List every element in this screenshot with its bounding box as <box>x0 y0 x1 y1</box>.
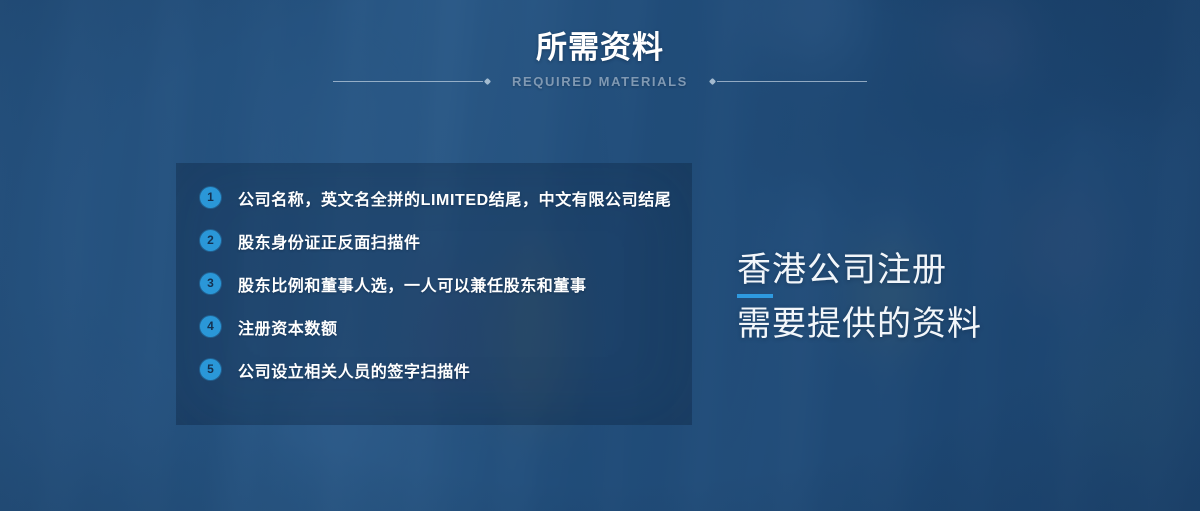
side-headline-line-1: 香港公司注册 <box>737 248 1157 292</box>
item-number-badge: 3 <box>200 273 221 294</box>
requirements-list: 1 公司名称，英文名全拼的LIMITED结尾，中文有限公司结尾 2 股东身份证正… <box>200 185 678 388</box>
list-item: 1 公司名称，英文名全拼的LIMITED结尾，中文有限公司结尾 <box>200 185 678 216</box>
requirements-panel: 1 公司名称，英文名全拼的LIMITED结尾，中文有限公司结尾 2 股东身份证正… <box>176 163 692 425</box>
list-item: 4 注册资本数额 <box>200 314 678 345</box>
side-headline: 香港公司注册 需要提供的资料 <box>737 248 1157 346</box>
background-color-blob <box>0 360 160 480</box>
item-text: 公司名称，英文名全拼的LIMITED结尾，中文有限公司结尾 <box>238 185 671 216</box>
item-text: 股东身份证正反面扫描件 <box>238 228 421 259</box>
item-text: 公司设立相关人员的签字扫描件 <box>238 357 470 388</box>
decoration-dot-icon <box>709 78 716 85</box>
decoration-line-icon <box>717 81 867 82</box>
subtitle-decoration-right <box>710 79 867 84</box>
item-number-badge: 1 <box>200 187 221 208</box>
page-title: 所需资料 <box>0 28 1200 68</box>
subtitle-decoration-left <box>333 79 490 84</box>
decoration-line-icon <box>333 81 483 82</box>
item-text: 股东比例和董事人选，一人可以兼任股东和董事 <box>238 271 587 302</box>
list-item: 5 公司设立相关人员的签字扫描件 <box>200 357 678 388</box>
item-number-badge: 2 <box>200 230 221 251</box>
list-item: 2 股东身份证正反面扫描件 <box>200 228 678 259</box>
item-number-badge: 5 <box>200 359 221 380</box>
accent-rule <box>737 294 773 298</box>
list-item: 3 股东比例和董事人选，一人可以兼任股东和董事 <box>200 271 678 302</box>
banner-header: 所需资料 REQUIRED MATERIALS <box>0 28 1200 89</box>
item-number-badge: 4 <box>200 316 221 337</box>
page-subtitle: REQUIRED MATERIALS <box>490 74 710 89</box>
side-headline-line-2: 需要提供的资料 <box>737 302 1157 346</box>
subtitle-row: REQUIRED MATERIALS <box>0 74 1200 89</box>
required-materials-banner: 所需资料 REQUIRED MATERIALS 1 公司名称，英文名全拼的LIM… <box>0 0 1200 511</box>
item-text: 注册资本数额 <box>238 314 338 345</box>
